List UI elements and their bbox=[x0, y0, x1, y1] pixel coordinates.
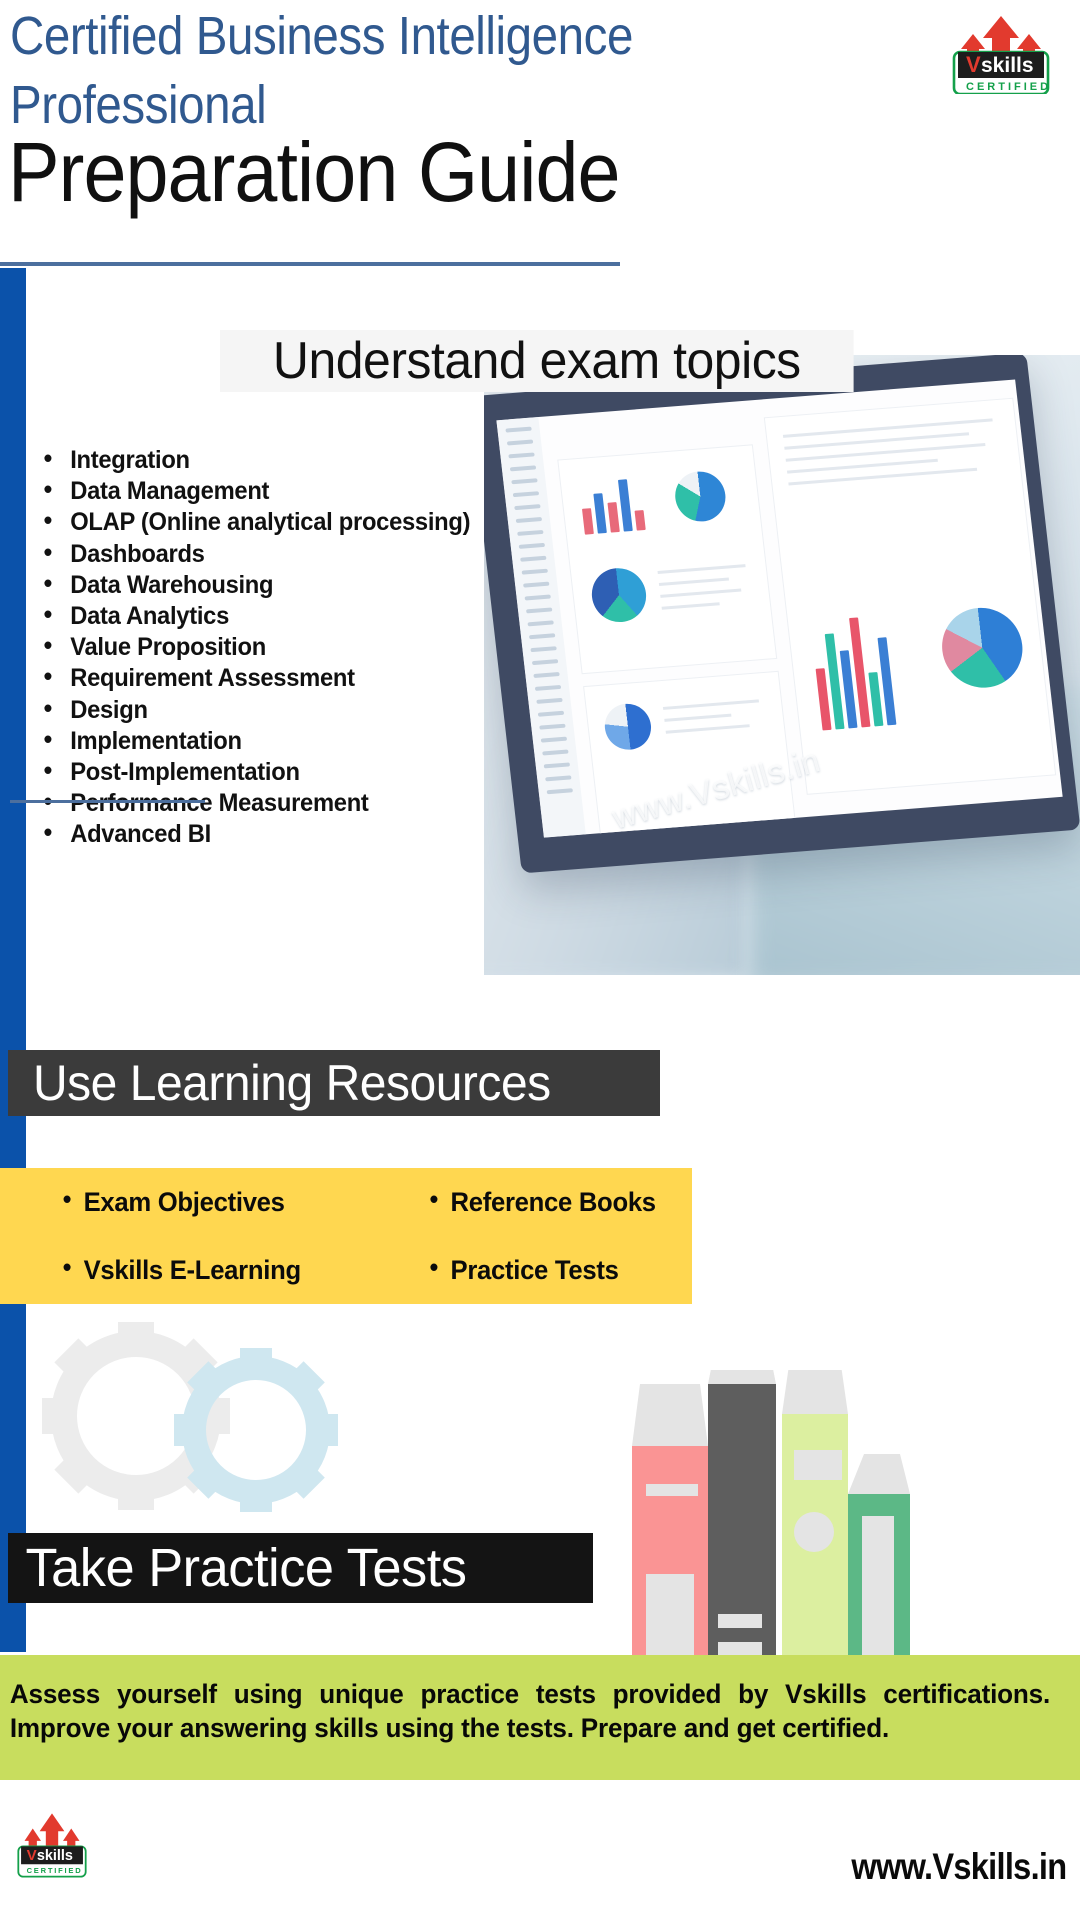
list-item: OLAP (Online analytical processing) bbox=[36, 507, 483, 538]
list-item: Performance Measurement bbox=[36, 788, 483, 819]
practice-tests-banner-label: Take Practice Tests bbox=[8, 1533, 575, 1603]
dashboard-main-bar-chart bbox=[809, 605, 896, 730]
vskills-logo-icon: V skills CERTIFIED bbox=[10, 1812, 94, 1878]
dashboard-text-lines bbox=[658, 564, 751, 619]
exam-topics-list: Integration Data Management OLAP (Online… bbox=[36, 445, 506, 851]
header-divider bbox=[0, 262, 620, 266]
svg-text:CERTIFIED: CERTIFIED bbox=[966, 81, 1051, 93]
dashboard-main-lines bbox=[783, 418, 999, 494]
topics-heading: Understand exam topics bbox=[220, 330, 854, 392]
vskills-logo-header: V skills CERTIFIED bbox=[940, 14, 1062, 94]
footer-website-url: www.Vskills.in bbox=[851, 1846, 1066, 1888]
infographic-page: Certified Business Intelligence Professi… bbox=[0, 0, 1080, 1920]
svg-text:skills: skills bbox=[37, 1848, 73, 1864]
svg-text:skills: skills bbox=[981, 54, 1034, 77]
practice-tests-description-box: Assess yourself using unique practice te… bbox=[0, 1655, 1080, 1780]
gear-blue-teeth-icon bbox=[174, 1348, 338, 1512]
resource-item-vskills-elearning: Vskills E-Learning bbox=[0, 1255, 401, 1286]
list-item: Dashboards bbox=[36, 539, 483, 570]
dashboard-bar-chart bbox=[579, 476, 646, 534]
svg-text:CERTIFIED: CERTIFIED bbox=[27, 1866, 83, 1875]
certification-title: Certified Business Intelligence Professi… bbox=[10, 2, 828, 140]
dashboard-lower-pie bbox=[602, 702, 653, 751]
dashboard-card-charts bbox=[557, 444, 777, 674]
practice-tests-description: Assess yourself using unique practice te… bbox=[0, 1655, 1064, 1745]
resource-item-reference-books: Reference Books bbox=[422, 1187, 678, 1218]
practice-tests-banner: Take Practice Tests bbox=[8, 1533, 593, 1603]
learning-resources-box: Exam Objectives Reference Books Vskills … bbox=[0, 1168, 692, 1304]
dashboard-main-pie-chart bbox=[938, 605, 1027, 691]
list-item: Post-Implementation bbox=[36, 757, 483, 788]
book-gray-icon bbox=[708, 1370, 776, 1660]
list-item: Data Warehousing bbox=[36, 570, 483, 601]
learning-resources-banner-label: Use Learning Resources bbox=[8, 1050, 634, 1116]
list-item: Integration bbox=[36, 445, 483, 476]
dashboard-card-main bbox=[764, 398, 1056, 795]
list-item: Value Proposition bbox=[36, 632, 483, 663]
book-pink-icon bbox=[632, 1384, 708, 1660]
dashboard-pie-chart-small bbox=[589, 566, 649, 624]
monitor-illustration bbox=[484, 355, 1080, 873]
svg-text:V: V bbox=[27, 1847, 37, 1864]
page-title: Preparation Guide bbox=[8, 130, 620, 214]
topics-divider bbox=[10, 800, 205, 803]
svg-text:V: V bbox=[966, 52, 981, 77]
list-item: Data Management bbox=[36, 476, 483, 507]
bi-dashboard-photo: www.Vskills.in bbox=[484, 355, 1080, 975]
vskills-logo-footer: V skills CERTIFIED bbox=[10, 1812, 94, 1878]
book-green-icon bbox=[848, 1454, 910, 1660]
list-item: Advanced BI bbox=[36, 819, 483, 850]
header: Certified Business Intelligence Professi… bbox=[0, 0, 1080, 268]
list-item: Data Analytics bbox=[36, 601, 483, 632]
gears-decoration bbox=[8, 1308, 388, 1558]
learning-resources-banner: Use Learning Resources bbox=[8, 1050, 660, 1116]
resource-item-exam-objectives: Exam Objectives bbox=[0, 1187, 401, 1218]
list-item: Requirement Assessment bbox=[36, 663, 483, 694]
resource-item-practice-tests: Practice Tests bbox=[422, 1255, 678, 1286]
list-item: Implementation bbox=[36, 726, 483, 757]
list-item: Design bbox=[36, 695, 483, 726]
dashboard-lower-lines bbox=[663, 699, 763, 742]
dashboard-donut-chart bbox=[673, 470, 729, 524]
book-lime-icon bbox=[782, 1370, 848, 1660]
books-decoration bbox=[618, 1370, 1080, 1660]
vskills-logo-icon: V skills CERTIFIED bbox=[940, 14, 1062, 94]
